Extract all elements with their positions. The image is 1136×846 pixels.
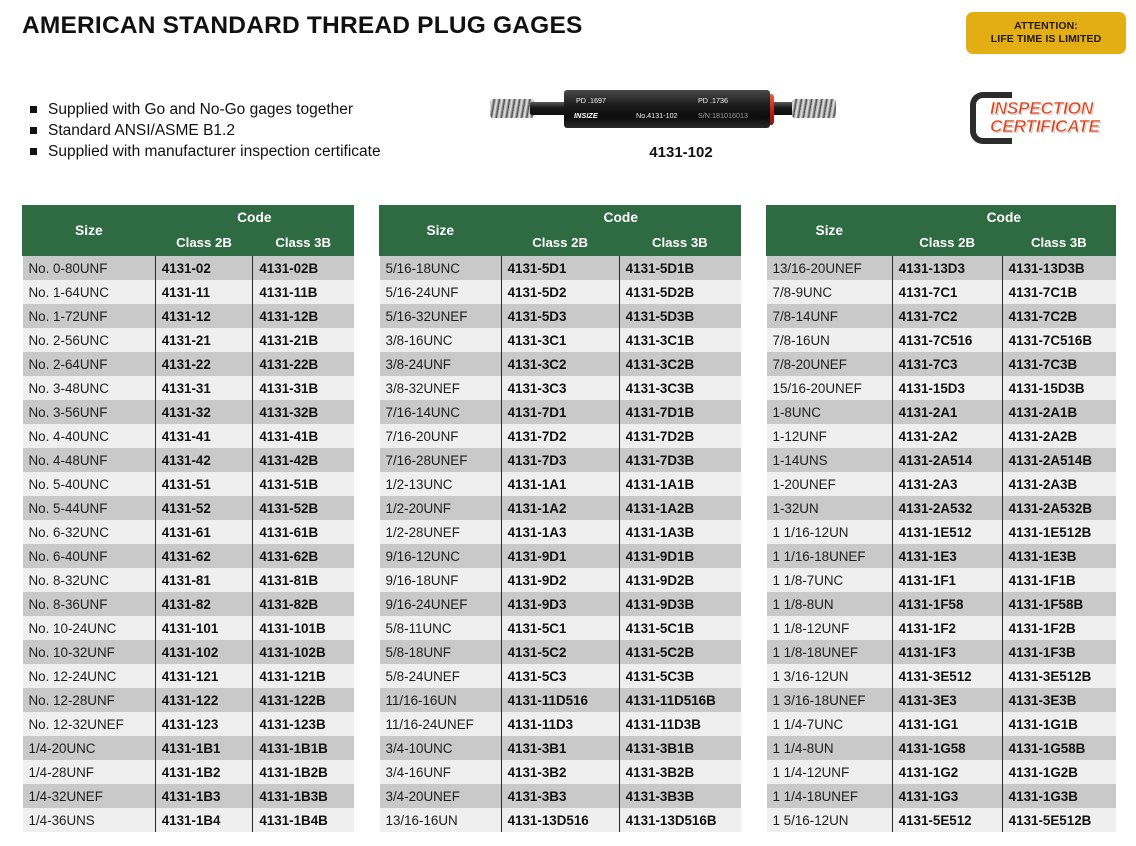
cell-class-3b: 4131-3B1B — [619, 736, 740, 760]
cell-class-3b: 4131-1B4B — [253, 808, 354, 832]
cell-size: 1/2-28UNEF — [380, 520, 502, 544]
cell-size: 1 1/8-8UN — [767, 592, 893, 616]
header-code: Code — [501, 206, 740, 229]
cell-size: 7/8-14UNF — [767, 304, 893, 328]
table-row: 1 3/16-12UN4131-3E5124131-3E512B — [767, 664, 1116, 688]
table-body: 13/16-20UNEF4131-13D34131-13D3B7/8-9UNC4… — [767, 256, 1116, 833]
cell-class-2b: 4131-7C1 — [892, 280, 1002, 304]
cell-class-3b: 4131-32B — [253, 400, 354, 424]
table-row: 1/2-28UNEF4131-1A34131-1A3B — [380, 520, 741, 544]
table-row: 1/4-28UNF4131-1B24131-1B2B — [23, 760, 354, 784]
cell-class-3b: 4131-42B — [253, 448, 354, 472]
cell-class-2b: 4131-2A532 — [892, 496, 1002, 520]
thread-left-icon — [490, 99, 534, 118]
cell-class-2b: 4131-5C3 — [501, 664, 619, 688]
cell-class-2b: 4131-102 — [155, 640, 253, 664]
attention-line-1: ATTENTION: — [1014, 20, 1078, 33]
table-row: No. 12-24UNC4131-1214131-121B — [23, 664, 354, 688]
cell-size: 5/16-18UNC — [380, 256, 502, 281]
table-row: 3/8-24UNF4131-3C24131-3C2B — [380, 352, 741, 376]
cell-size: No. 2-64UNF — [23, 352, 156, 376]
table-row: 13/16-16UN4131-13D5164131-13D516B — [380, 808, 741, 832]
cell-class-2b: 4131-9D1 — [501, 544, 619, 568]
cell-class-2b: 4131-3C2 — [501, 352, 619, 376]
cell-class-3b: 4131-1F2B — [1002, 616, 1115, 640]
cell-size: 1-12UNF — [767, 424, 893, 448]
cell-class-3b: 4131-11B — [253, 280, 354, 304]
cell-size: 7/8-20UNEF — [767, 352, 893, 376]
cell-class-3b: 4131-101B — [253, 616, 354, 640]
cell-class-3b: 4131-3C1B — [619, 328, 740, 352]
table-row: 9/16-12UNC4131-9D14131-9D1B — [380, 544, 741, 568]
table-row: No. 10-32UNF4131-1024131-102B — [23, 640, 354, 664]
cell-class-3b: 4131-9D1B — [619, 544, 740, 568]
feature-text: Standard ANSI/ASME B1.2 — [48, 122, 235, 139]
table-row: 7/16-28UNEF4131-7D34131-7D3B — [380, 448, 741, 472]
feature-text: Supplied with manufacturer inspection ce… — [48, 143, 381, 160]
size-code-table-2: Size Code Class 2B Class 3B 5/16-18UNC41… — [379, 205, 741, 832]
cell-size: No. 1-64UNC — [23, 280, 156, 304]
cell-size: No. 12-32UNEF — [23, 712, 156, 736]
table-row: No. 3-48UNC4131-314131-31B — [23, 376, 354, 400]
cell-class-3b: 4131-12B — [253, 304, 354, 328]
label-pd-right: PD .1736 — [698, 96, 728, 105]
list-item: Standard ANSI/ASME B1.2 — [30, 120, 381, 141]
label-model-number: No.4131-102 — [636, 111, 678, 120]
table-row: No. 3-56UNF4131-324131-32B — [23, 400, 354, 424]
cell-size: 1 1/4-8UN — [767, 736, 893, 760]
cell-size: 1 3/16-12UN — [767, 664, 893, 688]
cell-class-3b: 4131-1B1B — [253, 736, 354, 760]
table-body: 5/16-18UNC4131-5D14131-5D1B5/16-24UNF413… — [380, 256, 741, 833]
cell-size: 1 3/16-18UNEF — [767, 688, 893, 712]
table-row: No. 6-32UNC4131-614131-61B — [23, 520, 354, 544]
cell-class-3b: 4131-81B — [253, 568, 354, 592]
cell-size: 9/16-24UNEF — [380, 592, 502, 616]
cell-size: 9/16-12UNC — [380, 544, 502, 568]
table-row: No. 12-28UNF4131-1224131-122B — [23, 688, 354, 712]
cell-class-2b: 4131-1B1 — [155, 736, 253, 760]
cell-size: No. 5-44UNF — [23, 496, 156, 520]
table-header: Size Code Class 2B Class 3B — [23, 206, 354, 256]
table-row: 1 1/4-12UNF4131-1G24131-1G2B — [767, 760, 1116, 784]
cell-class-3b: 4131-7D3B — [619, 448, 740, 472]
cell-class-3b: 4131-1A3B — [619, 520, 740, 544]
cell-class-2b: 4131-11D3 — [501, 712, 619, 736]
table-row: 3/4-20UNEF4131-3B34131-3B3B — [380, 784, 741, 808]
cell-size: 3/4-20UNEF — [380, 784, 502, 808]
cell-size: 7/8-16UN — [767, 328, 893, 352]
cell-size: 1-8UNC — [767, 400, 893, 424]
cell-size: 3/4-10UNC — [380, 736, 502, 760]
cell-size: 5/16-24UNF — [380, 280, 502, 304]
cell-size: 1 1/4-7UNC — [767, 712, 893, 736]
cell-class-3b: 4131-1F1B — [1002, 568, 1115, 592]
table-row: 1-32UN4131-2A5324131-2A532B — [767, 496, 1116, 520]
cell-class-2b: 4131-5C2 — [501, 640, 619, 664]
table-row: No. 12-32UNEF4131-1234131-123B — [23, 712, 354, 736]
cell-class-2b: 4131-82 — [155, 592, 253, 616]
table-row: 1/4-20UNC4131-1B14131-1B1B — [23, 736, 354, 760]
cell-class-3b: 4131-7C2B — [1002, 304, 1115, 328]
cell-size: 1 1/16-12UN — [767, 520, 893, 544]
table-row: No. 5-40UNC4131-514131-51B — [23, 472, 354, 496]
cell-size: 1 1/4-12UNF — [767, 760, 893, 784]
cell-class-2b: 4131-2A3 — [892, 472, 1002, 496]
cell-class-2b: 4131-122 — [155, 688, 253, 712]
cell-size: No. 5-40UNC — [23, 472, 156, 496]
table-header: Size Code Class 2B Class 3B — [380, 206, 741, 256]
header-class-2b: Class 2B — [501, 229, 619, 256]
cell-class-3b: 4131-11D3B — [619, 712, 740, 736]
table-row: 5/8-11UNC4131-5C14131-5C1B — [380, 616, 741, 640]
cell-class-2b: 4131-11D516 — [501, 688, 619, 712]
product-photo: PD .1697 PD .1736 INSIZE No.4131-102 S/N… — [486, 80, 876, 138]
cell-class-2b: 4131-3E512 — [892, 664, 1002, 688]
table-row: No. 8-36UNF4131-824131-82B — [23, 592, 354, 616]
cell-class-2b: 4131-101 — [155, 616, 253, 640]
table-row: 3/8-32UNEF4131-3C34131-3C3B — [380, 376, 741, 400]
header-size: Size — [380, 206, 502, 256]
table-row: 5/8-18UNF4131-5C24131-5C2B — [380, 640, 741, 664]
cell-size: No. 1-72UNF — [23, 304, 156, 328]
cell-class-3b: 4131-62B — [253, 544, 354, 568]
cell-class-3b: 4131-1B2B — [253, 760, 354, 784]
cell-class-3b: 4131-1G58B — [1002, 736, 1115, 760]
table-row: No. 2-64UNF4131-224131-22B — [23, 352, 354, 376]
cell-size: 5/8-18UNF — [380, 640, 502, 664]
table-row: No. 1-72UNF4131-124131-12B — [23, 304, 354, 328]
cell-size: No. 12-28UNF — [23, 688, 156, 712]
cell-class-3b: 4131-7C1B — [1002, 280, 1115, 304]
cell-class-2b: 4131-5E512 — [892, 808, 1002, 832]
brand-label: INSIZE — [574, 111, 598, 120]
table-header: Size Code Class 2B Class 3B — [767, 206, 1116, 256]
table-row: 1 1/16-18UNEF4131-1E34131-1E3B — [767, 544, 1116, 568]
cell-class-2b: 4131-1F2 — [892, 616, 1002, 640]
cell-size: No. 10-32UNF — [23, 640, 156, 664]
table-row: 5/16-18UNC4131-5D14131-5D1B — [380, 256, 741, 281]
header-code: Code — [892, 206, 1115, 229]
table-row: No. 10-24UNC4131-1014131-101B — [23, 616, 354, 640]
cell-class-2b: 4131-5C1 — [501, 616, 619, 640]
cell-class-3b: 4131-5D1B — [619, 256, 740, 281]
table-row: 5/16-24UNF4131-5D24131-5D2B — [380, 280, 741, 304]
header-size: Size — [23, 206, 156, 256]
cell-size: No. 3-56UNF — [23, 400, 156, 424]
table-row: 7/16-14UNC4131-7D14131-7D1B — [380, 400, 741, 424]
table-row: 11/16-24UNEF4131-11D34131-11D3B — [380, 712, 741, 736]
certificate-line-1: INSPECTION — [990, 100, 1100, 118]
cell-class-2b: 4131-1E512 — [892, 520, 1002, 544]
cell-size: 11/16-16UN — [380, 688, 502, 712]
cell-class-2b: 4131-52 — [155, 496, 253, 520]
inspection-certificate-logo: INSPECTION CERTIFICATE — [968, 92, 1130, 148]
table-3-wrapper: Size Code Class 2B Class 3B 13/16-20UNEF… — [766, 205, 1116, 832]
cell-class-3b: 4131-123B — [253, 712, 354, 736]
cell-class-3b: 4131-7C516B — [1002, 328, 1115, 352]
cell-class-2b: 4131-121 — [155, 664, 253, 688]
cell-size: No. 12-24UNC — [23, 664, 156, 688]
cell-class-3b: 4131-11D516B — [619, 688, 740, 712]
cell-class-3b: 4131-1A2B — [619, 496, 740, 520]
cell-class-3b: 4131-102B — [253, 640, 354, 664]
cell-size: 7/16-20UNF — [380, 424, 502, 448]
cell-class-3b: 4131-5C1B — [619, 616, 740, 640]
cell-class-3b: 4131-1G3B — [1002, 784, 1115, 808]
table-row: No. 8-32UNC4131-814131-81B — [23, 568, 354, 592]
cell-size: 13/16-16UN — [380, 808, 502, 832]
cell-class-2b: 4131-7C516 — [892, 328, 1002, 352]
cell-size: 5/16-32UNEF — [380, 304, 502, 328]
cell-class-3b: 4131-41B — [253, 424, 354, 448]
cell-class-2b: 4131-1G58 — [892, 736, 1002, 760]
cell-size: No. 10-24UNC — [23, 616, 156, 640]
header-class-3b: Class 3B — [253, 229, 354, 256]
cell-class-3b: 4131-9D2B — [619, 568, 740, 592]
cell-class-2b: 4131-11 — [155, 280, 253, 304]
table-row: 7/8-16UN4131-7C5164131-7C516B — [767, 328, 1116, 352]
cell-class-2b: 4131-1B4 — [155, 808, 253, 832]
size-code-table-1: Size Code Class 2B Class 3B No. 0-80UNF4… — [22, 205, 354, 832]
cell-class-3b: 4131-3B2B — [619, 760, 740, 784]
cell-class-2b: 4131-5D1 — [501, 256, 619, 281]
cell-size: 1/4-32UNEF — [23, 784, 156, 808]
cell-class-2b: 4131-5D2 — [501, 280, 619, 304]
cell-class-2b: 4131-1A3 — [501, 520, 619, 544]
cell-class-2b: 4131-7D2 — [501, 424, 619, 448]
cell-class-2b: 4131-1E3 — [892, 544, 1002, 568]
cell-class-3b: 4131-1E3B — [1002, 544, 1115, 568]
cell-size: No. 6-40UNF — [23, 544, 156, 568]
cell-size: 7/16-14UNC — [380, 400, 502, 424]
table-row: 1/2-20UNF4131-1A24131-1A2B — [380, 496, 741, 520]
cell-class-2b: 4131-1G3 — [892, 784, 1002, 808]
cell-class-3b: 4131-3C2B — [619, 352, 740, 376]
table-row: 1-14UNS4131-2A5144131-2A514B — [767, 448, 1116, 472]
cell-class-2b: 4131-22 — [155, 352, 253, 376]
table-2-wrapper: Size Code Class 2B Class 3B 5/16-18UNC41… — [379, 205, 741, 832]
table-row: 9/16-24UNEF4131-9D34131-9D3B — [380, 592, 741, 616]
cell-class-2b: 4131-5D3 — [501, 304, 619, 328]
cell-size: 13/16-20UNEF — [767, 256, 893, 281]
header-class-3b: Class 3B — [619, 229, 740, 256]
header-size: Size — [767, 206, 893, 256]
table-row: 15/16-20UNEF4131-15D34131-15D3B — [767, 376, 1116, 400]
cell-class-3b: 4131-7D1B — [619, 400, 740, 424]
table-row: No. 1-64UNC4131-114131-11B — [23, 280, 354, 304]
cell-class-2b: 4131-15D3 — [892, 376, 1002, 400]
cell-class-2b: 4131-81 — [155, 568, 253, 592]
cell-size: 1/4-28UNF — [23, 760, 156, 784]
cell-size: 3/4-16UNF — [380, 760, 502, 784]
cell-class-2b: 4131-7D1 — [501, 400, 619, 424]
square-bullet-icon — [30, 106, 37, 113]
list-item: Supplied with manufacturer inspection ce… — [30, 141, 381, 162]
cell-class-2b: 4131-9D2 — [501, 568, 619, 592]
cell-class-2b: 4131-51 — [155, 472, 253, 496]
cell-class-2b: 4131-13D3 — [892, 256, 1002, 281]
cell-size: 1 1/16-18UNEF — [767, 544, 893, 568]
attention-badge: ATTENTION: LIFE TIME IS LIMITED — [966, 12, 1126, 54]
cell-class-3b: 4131-2A532B — [1002, 496, 1115, 520]
attention-line-2: LIFE TIME IS LIMITED — [991, 33, 1102, 46]
cell-class-2b: 4131-1A2 — [501, 496, 619, 520]
cell-class-3b: 4131-5C2B — [619, 640, 740, 664]
cell-size: 1-20UNEF — [767, 472, 893, 496]
catalog-page: AMERICAN STANDARD THREAD PLUG GAGES Supp… — [0, 0, 1136, 846]
cell-class-3b: 4131-1A1B — [619, 472, 740, 496]
feature-text: Supplied with Go and No-Go gages togethe… — [48, 101, 353, 118]
cell-size: No. 6-32UNC — [23, 520, 156, 544]
table-row: 7/8-14UNF4131-7C24131-7C2B — [767, 304, 1116, 328]
table-row: 1/2-13UNC4131-1A14131-1A1B — [380, 472, 741, 496]
cell-size: 1 1/8-7UNC — [767, 568, 893, 592]
cell-class-3b: 4131-9D3B — [619, 592, 740, 616]
cell-class-3b: 4131-1E512B — [1002, 520, 1115, 544]
cell-size: 1 1/8-18UNEF — [767, 640, 893, 664]
cell-class-2b: 4131-1F58 — [892, 592, 1002, 616]
cell-class-2b: 4131-1A1 — [501, 472, 619, 496]
table-row: 1 1/16-12UN4131-1E5124131-1E512B — [767, 520, 1116, 544]
table-row: 5/16-32UNEF4131-5D34131-5D3B — [380, 304, 741, 328]
cell-size: 11/16-24UNEF — [380, 712, 502, 736]
header-class-2b: Class 2B — [155, 229, 253, 256]
cell-class-3b: 4131-2A2B — [1002, 424, 1115, 448]
cell-class-2b: 4131-1B3 — [155, 784, 253, 808]
cell-size: 3/8-32UNEF — [380, 376, 502, 400]
certificate-text: INSPECTION CERTIFICATE — [990, 100, 1100, 135]
table-row: 7/16-20UNF4131-7D24131-7D2B — [380, 424, 741, 448]
cell-size: 1/4-36UNS — [23, 808, 156, 832]
cell-class-3b: 4131-7D2B — [619, 424, 740, 448]
cell-class-3b: 4131-61B — [253, 520, 354, 544]
cell-class-2b: 4131-3C3 — [501, 376, 619, 400]
cell-class-2b: 4131-1F3 — [892, 640, 1002, 664]
label-pd-left: PD .1697 — [576, 96, 606, 105]
table-row: 7/8-20UNEF4131-7C34131-7C3B — [767, 352, 1116, 376]
feature-list: Supplied with Go and No-Go gages togethe… — [30, 99, 381, 162]
cell-size: 1-14UNS — [767, 448, 893, 472]
cell-class-2b: 4131-3C1 — [501, 328, 619, 352]
cell-size: 15/16-20UNEF — [767, 376, 893, 400]
cell-size: 1/2-13UNC — [380, 472, 502, 496]
cell-size: 1/4-20UNC — [23, 736, 156, 760]
cell-class-2b: 4131-2A2 — [892, 424, 1002, 448]
cell-size: 1 5/16-12UN — [767, 808, 893, 832]
table-row: 5/8-24UNEF4131-5C34131-5C3B — [380, 664, 741, 688]
cell-size: No. 3-48UNC — [23, 376, 156, 400]
size-code-table-3: Size Code Class 2B Class 3B 13/16-20UNEF… — [766, 205, 1116, 832]
cell-class-3b: 4131-2A3B — [1002, 472, 1115, 496]
table-row: No. 4-48UNF4131-424131-42B — [23, 448, 354, 472]
table-row: 9/16-18UNF4131-9D24131-9D2B — [380, 568, 741, 592]
table-row: 13/16-20UNEF4131-13D34131-13D3B — [767, 256, 1116, 281]
cell-size: No. 2-56UNC — [23, 328, 156, 352]
page-title: AMERICAN STANDARD THREAD PLUG GAGES — [22, 12, 583, 40]
cell-class-3b: 4131-51B — [253, 472, 354, 496]
cell-size: 1/2-20UNF — [380, 496, 502, 520]
cell-class-2b: 4131-02 — [155, 256, 253, 281]
cell-class-2b: 4131-1F1 — [892, 568, 1002, 592]
table-row: No. 2-56UNC4131-214131-21B — [23, 328, 354, 352]
cell-class-3b: 4131-13D3B — [1002, 256, 1115, 281]
cell-class-2b: 4131-42 — [155, 448, 253, 472]
table-row: No. 6-40UNF4131-624131-62B — [23, 544, 354, 568]
cell-class-2b: 4131-62 — [155, 544, 253, 568]
cell-size: No. 4-48UNF — [23, 448, 156, 472]
cell-class-2b: 4131-3B1 — [501, 736, 619, 760]
table-row: 1-20UNEF4131-2A34131-2A3B — [767, 472, 1116, 496]
table-row: 11/16-16UN4131-11D5164131-11D516B — [380, 688, 741, 712]
cell-class-3b: 4131-3C3B — [619, 376, 740, 400]
cell-class-2b: 4131-7C3 — [892, 352, 1002, 376]
square-bullet-icon — [30, 127, 37, 134]
cell-class-2b: 4131-2A514 — [892, 448, 1002, 472]
cell-class-3b: 4131-121B — [253, 664, 354, 688]
cell-class-3b: 4131-5E512B — [1002, 808, 1115, 832]
cell-class-2b: 4131-1G1 — [892, 712, 1002, 736]
cell-class-2b: 4131-61 — [155, 520, 253, 544]
cell-class-3b: 4131-2A1B — [1002, 400, 1115, 424]
cell-class-3b: 4131-3E512B — [1002, 664, 1115, 688]
cell-size: 3/8-24UNF — [380, 352, 502, 376]
cell-size: No. 0-80UNF — [23, 256, 156, 281]
cell-class-3b: 4131-31B — [253, 376, 354, 400]
cell-class-2b: 4131-9D3 — [501, 592, 619, 616]
cell-class-2b: 4131-2A1 — [892, 400, 1002, 424]
table-row: 1/4-36UNS4131-1B44131-1B4B — [23, 808, 354, 832]
table-row: 3/8-16UNC4131-3C14131-3C1B — [380, 328, 741, 352]
table-row: No. 0-80UNF4131-024131-02B — [23, 256, 354, 281]
table-row: No. 5-44UNF4131-524131-52B — [23, 496, 354, 520]
cell-size: 3/8-16UNC — [380, 328, 502, 352]
table-row: 1-8UNC4131-2A14131-2A1B — [767, 400, 1116, 424]
cell-class-3b: 4131-1G1B — [1002, 712, 1115, 736]
certificate-line-2: CERTIFICATE — [990, 118, 1100, 136]
cell-class-2b: 4131-1B2 — [155, 760, 253, 784]
cell-class-3b: 4131-02B — [253, 256, 354, 281]
cell-class-3b: 4131-5D3B — [619, 304, 740, 328]
cell-class-3b: 4131-1G2B — [1002, 760, 1115, 784]
cell-class-2b: 4131-3E3 — [892, 688, 1002, 712]
cell-class-2b: 4131-21 — [155, 328, 253, 352]
cell-class-3b: 4131-3E3B — [1002, 688, 1115, 712]
cell-size: 7/16-28UNEF — [380, 448, 502, 472]
table-row: 1 5/16-12UN4131-5E5124131-5E512B — [767, 808, 1116, 832]
cell-class-3b: 4131-5D2B — [619, 280, 740, 304]
cell-size: No. 8-32UNC — [23, 568, 156, 592]
cell-class-2b: 4131-3B2 — [501, 760, 619, 784]
cell-class-2b: 4131-32 — [155, 400, 253, 424]
cell-class-2b: 4131-13D516 — [501, 808, 619, 832]
table-row: 1 3/16-18UNEF4131-3E34131-3E3B — [767, 688, 1116, 712]
cell-class-3b: 4131-1B3B — [253, 784, 354, 808]
table-row: 1 1/8-12UNF4131-1F24131-1F2B — [767, 616, 1116, 640]
table-row: 1 1/4-8UN4131-1G584131-1G58B — [767, 736, 1116, 760]
cell-size: 5/8-11UNC — [380, 616, 502, 640]
cell-size: No. 4-40UNC — [23, 424, 156, 448]
cell-size: No. 8-36UNF — [23, 592, 156, 616]
cell-size: 1-32UN — [767, 496, 893, 520]
table-row: 1 1/8-7UNC4131-1F14131-1F1B — [767, 568, 1116, 592]
product-code-caption: 4131-102 — [486, 144, 876, 161]
square-bullet-icon — [30, 148, 37, 155]
thread-right-icon — [792, 99, 836, 118]
cell-class-3b: 4131-22B — [253, 352, 354, 376]
cell-class-3b: 4131-122B — [253, 688, 354, 712]
cell-class-3b: 4131-21B — [253, 328, 354, 352]
